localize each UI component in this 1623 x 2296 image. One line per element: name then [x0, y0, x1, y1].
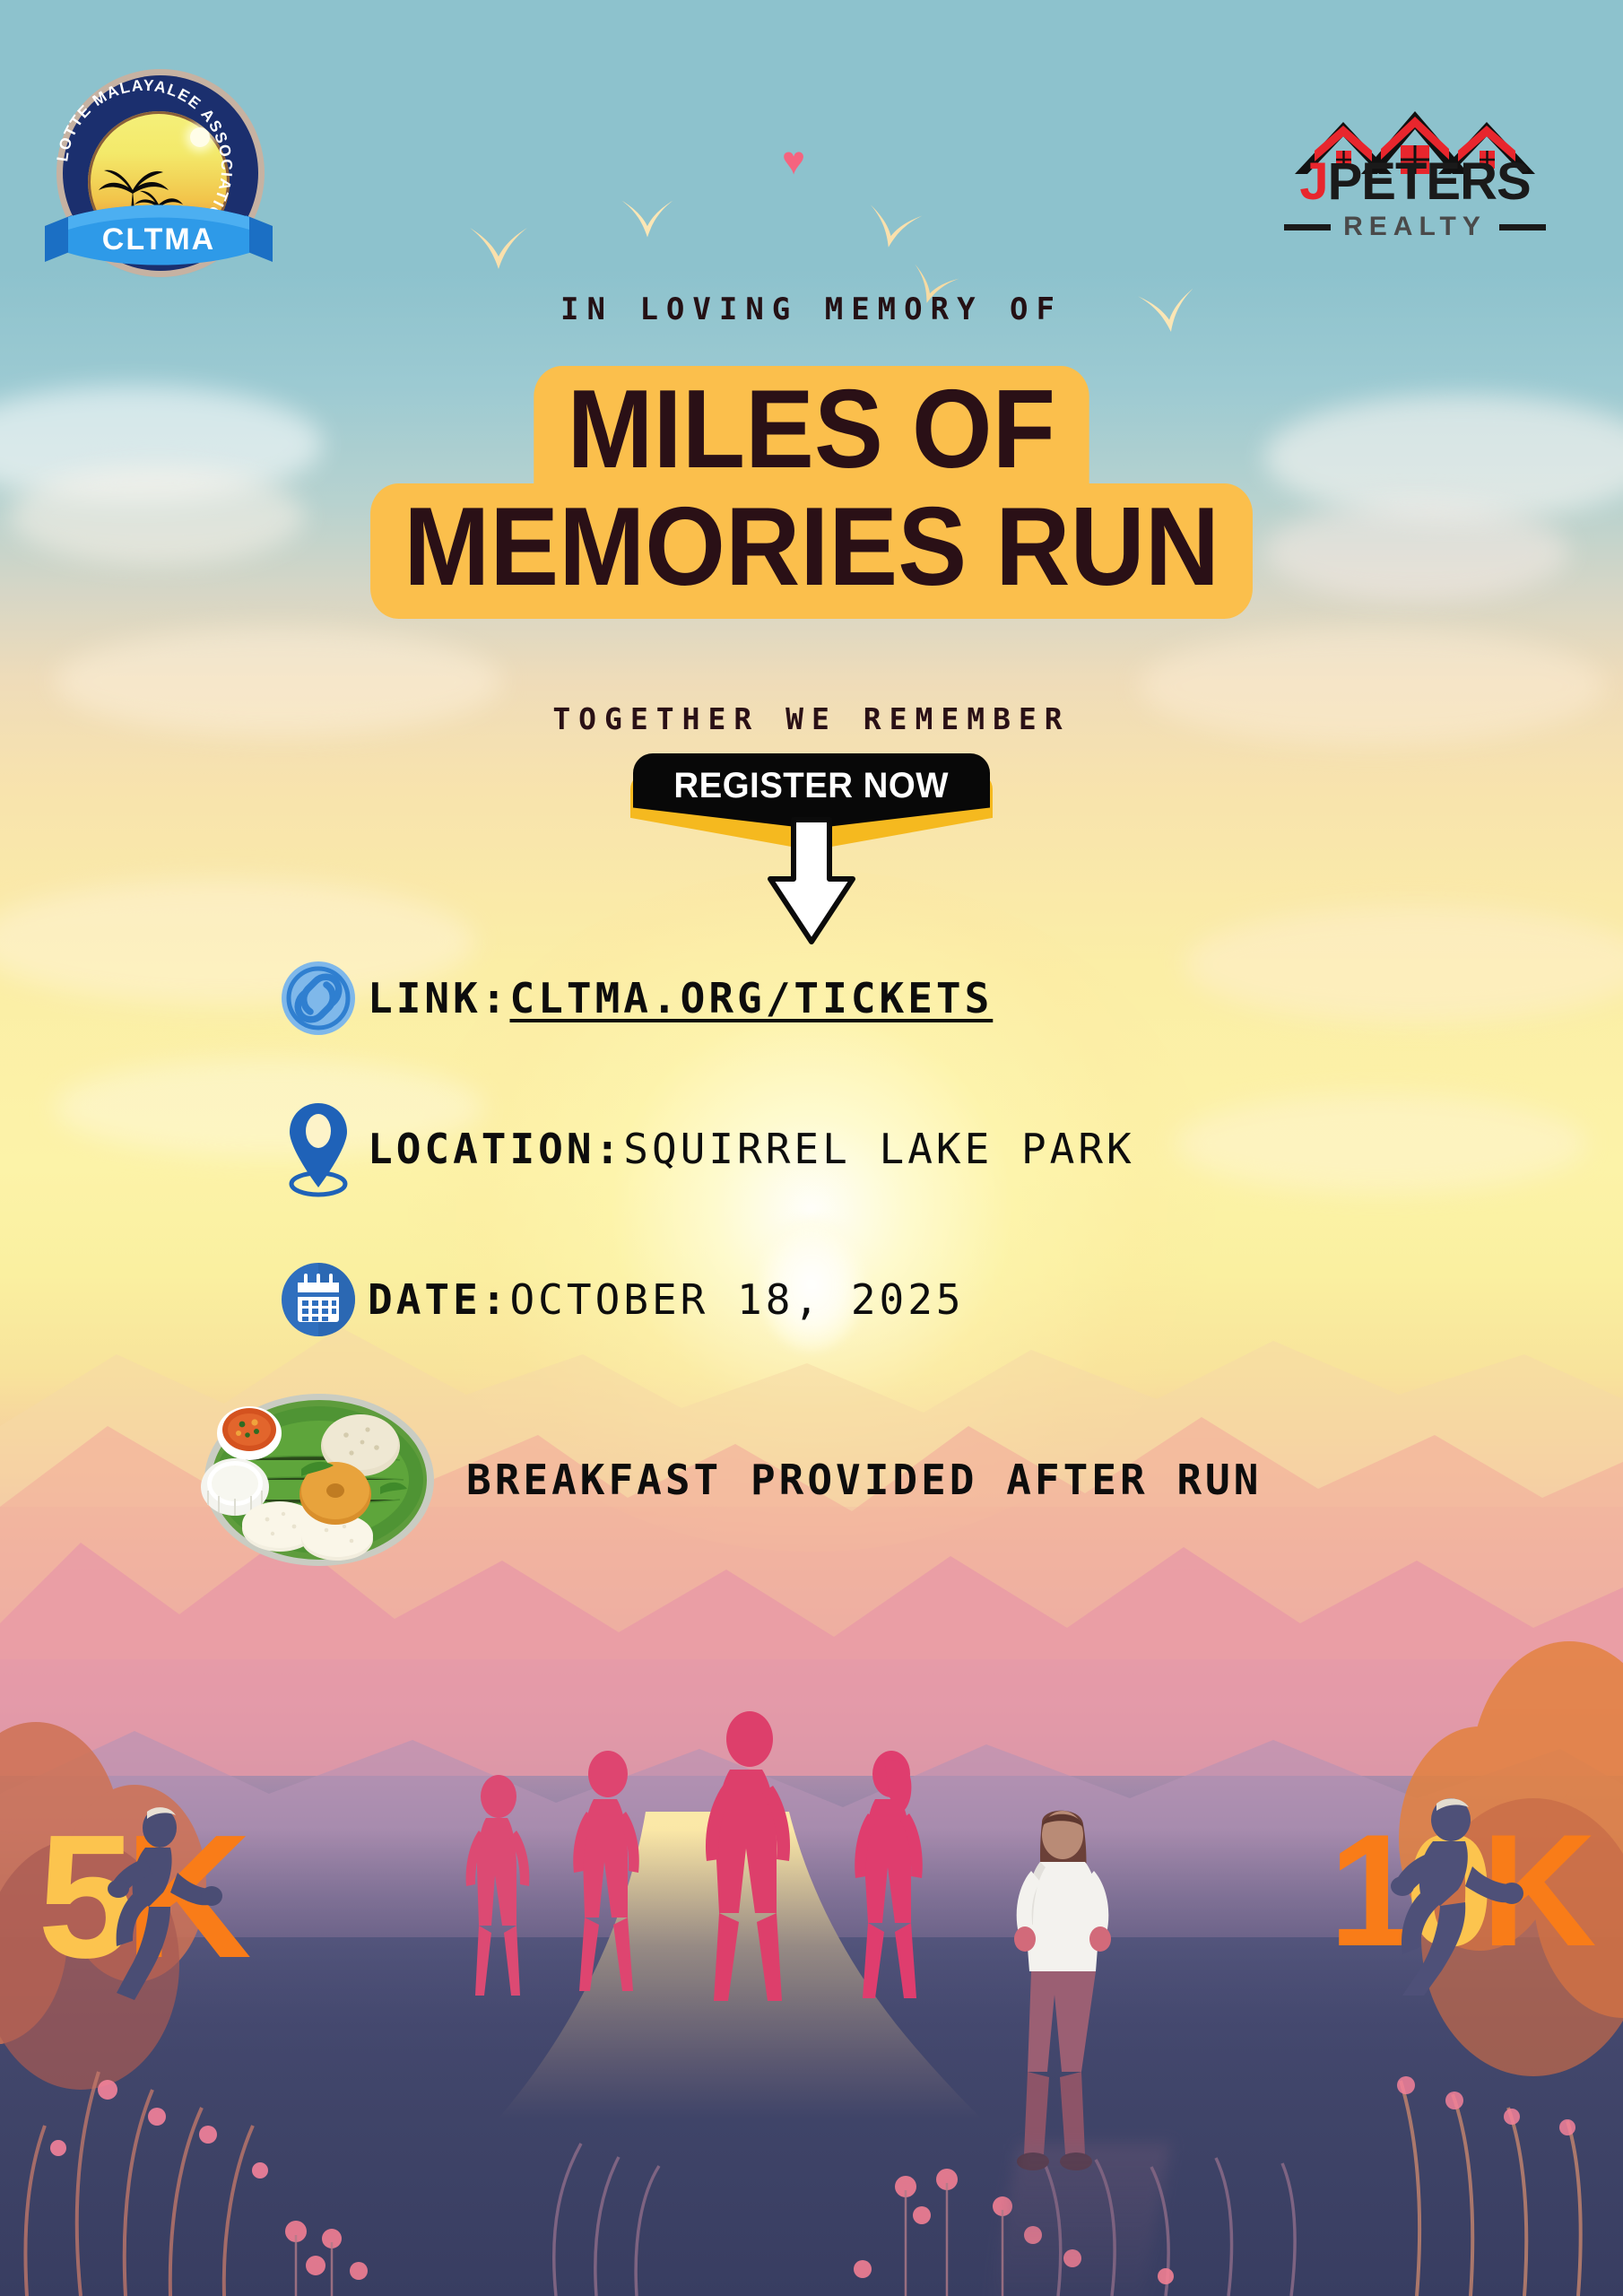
tagline-dash-right — [1499, 224, 1546, 230]
cltma-ribbon: CLTMA — [41, 203, 276, 273]
poster-title: MILES OF MEMORIES RUN — [0, 366, 1623, 619]
location-pin-icon — [281, 1101, 356, 1196]
down-arrow-icon — [763, 820, 860, 945]
detail-breakfast-text: BREAKFAST PROVIDED AFTER RUN — [466, 1456, 1262, 1504]
jpeters-tagline-row: REALTY — [1263, 212, 1567, 242]
jpeters-name: PETERS — [1328, 152, 1531, 211]
detail-row-location: LOCATION:SQUIRREL LAKE PARK — [269, 1101, 1524, 1196]
event-poster: ♥ — [0, 0, 1623, 2296]
calendar-icon — [280, 1261, 357, 1338]
detail-date-label: DATE: — [368, 1275, 509, 1324]
jpeters-initial: J — [1299, 152, 1327, 211]
jpeters-tagline: REALTY — [1343, 212, 1487, 242]
detail-row-date: DATE:OCTOBER 18, 2025 — [269, 1261, 1524, 1338]
runner-glyph-10k-icon — [1377, 1796, 1530, 1996]
detail-date-text: DATE:OCTOBER 18, 2025 — [368, 1275, 965, 1324]
event-details-list: LINK:CLTMA.ORG/TICKETS LOCATION:SQUIRREL… — [269, 960, 1524, 1623]
breakfast-plate-image — [176, 1390, 463, 1570]
detail-location-value: SQUIRREL LAKE PARK — [623, 1125, 1135, 1173]
tagline-dash-left — [1284, 224, 1331, 230]
bird-icon-2 — [619, 197, 676, 242]
title-row-2: MEMORIES RUN — [0, 489, 1623, 619]
runner-shadow — [986, 2144, 1170, 2296]
register-now-cta[interactable]: REGISTER NOW — [623, 753, 1000, 829]
detail-location-text: LOCATION:SQUIRREL LAKE PARK — [368, 1125, 1135, 1173]
10k-badge: 10K — [1329, 1780, 1589, 2000]
location-icon-wrap — [269, 1101, 368, 1196]
jpeters-wordmark: JPETERS — [1263, 156, 1567, 208]
bird-icon-1 — [466, 224, 531, 274]
jpeters-realty-logo[interactable]: JPETERS REALTY — [1263, 106, 1567, 249]
detail-date-value: OCTOBER 18, 2025 — [509, 1275, 964, 1324]
in-memory-eyebrow: IN LOVING MEMORY OF — [0, 291, 1623, 327]
foreground-woman-runner — [995, 1803, 1130, 2197]
runner-glyph-5k-icon — [93, 1806, 228, 2000]
detail-location-label: LOCATION: — [368, 1125, 623, 1173]
runner-silhouette-4 — [834, 1747, 947, 2043]
title-line-2: MEMORIES RUN — [370, 483, 1253, 619]
link-icon — [280, 960, 357, 1037]
calendar-icon-wrap — [269, 1261, 368, 1338]
detail-link-label: LINK: — [368, 974, 509, 1022]
detail-link-text: LINK:CLTMA.ORG/TICKETS — [368, 974, 993, 1022]
detail-row-link[interactable]: LINK:CLTMA.ORG/TICKETS — [269, 960, 1524, 1037]
runner-silhouette-2 — [554, 1747, 660, 2034]
breakfast-icon-wrap — [269, 1390, 475, 1570]
runner-silhouette-1 — [448, 1771, 547, 2040]
svg-text:CLTMA: CLTMA — [102, 222, 215, 257]
detail-link-value[interactable]: CLTMA.ORG/TICKETS — [509, 974, 993, 1022]
title-row-1: MILES OF — [0, 366, 1623, 489]
poster-tagline: TOGETHER WE REMEMBER — [0, 701, 1623, 736]
link-icon-wrap — [269, 960, 368, 1037]
detail-row-breakfast: BREAKFAST PROVIDED AFTER RUN — [269, 1390, 1524, 1570]
5k-badge: 5K — [38, 1794, 271, 2000]
heart-icon: ♥ — [782, 142, 805, 181]
cltma-logo[interactable]: CHARLOTTE MALAYALEE ASSOCIATION CLTMA — [47, 70, 271, 294]
register-button-label: REGISTER NOW — [674, 766, 950, 806]
detail-breakfast-label: BREAKFAST PROVIDED AFTER RUN — [466, 1456, 1262, 1504]
title-line-1: MILES OF — [534, 366, 1089, 489]
runner-silhouette-3 — [683, 1709, 816, 2049]
